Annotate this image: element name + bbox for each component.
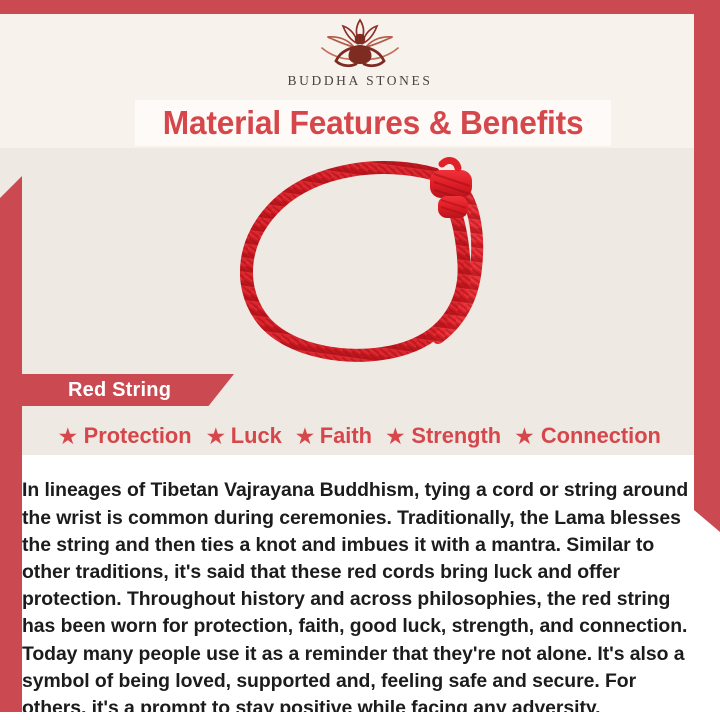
description-paragraph: In lineages of Tibetan Vajrayana Buddhis… bbox=[22, 477, 694, 720]
product-name-banner: Red String bbox=[22, 374, 234, 406]
feature-list: ★ Protection ★ Luck ★ Faith ★ Strength ★… bbox=[22, 418, 698, 454]
product-name-label: Red String bbox=[68, 379, 171, 402]
feature-label: Strength bbox=[411, 423, 501, 449]
brand-name: BUDDHA STONES bbox=[288, 73, 433, 89]
star-icon: ★ bbox=[385, 425, 406, 448]
star-icon: ★ bbox=[205, 425, 226, 448]
red-braided-string-bracelet bbox=[198, 152, 528, 370]
feature-label: Luck bbox=[231, 423, 282, 449]
star-icon: ★ bbox=[58, 425, 79, 448]
left-red-bar bbox=[0, 176, 22, 712]
page-title: Material Features & Benefits bbox=[163, 104, 584, 142]
feature-item-connection: ★ Connection bbox=[514, 423, 662, 449]
feature-label: Protection bbox=[84, 423, 192, 449]
feature-label: Connection bbox=[541, 423, 661, 449]
feature-item-faith: ★ Faith bbox=[295, 423, 373, 449]
feature-label: Faith bbox=[320, 423, 372, 449]
star-icon: ★ bbox=[295, 425, 316, 448]
infographic-page: BUDDHA STONES Material Features & Benefi… bbox=[0, 0, 720, 720]
page-title-band: Material Features & Benefits bbox=[135, 100, 611, 146]
bottom-white-strip bbox=[0, 712, 720, 720]
feature-item-luck: ★ Luck bbox=[205, 423, 282, 449]
lotus-meditation-icon bbox=[300, 16, 420, 72]
top-red-band bbox=[0, 0, 720, 14]
brand-logo: BUDDHA STONES bbox=[0, 16, 720, 98]
star-icon: ★ bbox=[514, 425, 535, 448]
feature-item-protection: ★ Protection bbox=[58, 423, 194, 449]
feature-item-strength: ★ Strength bbox=[385, 423, 502, 449]
